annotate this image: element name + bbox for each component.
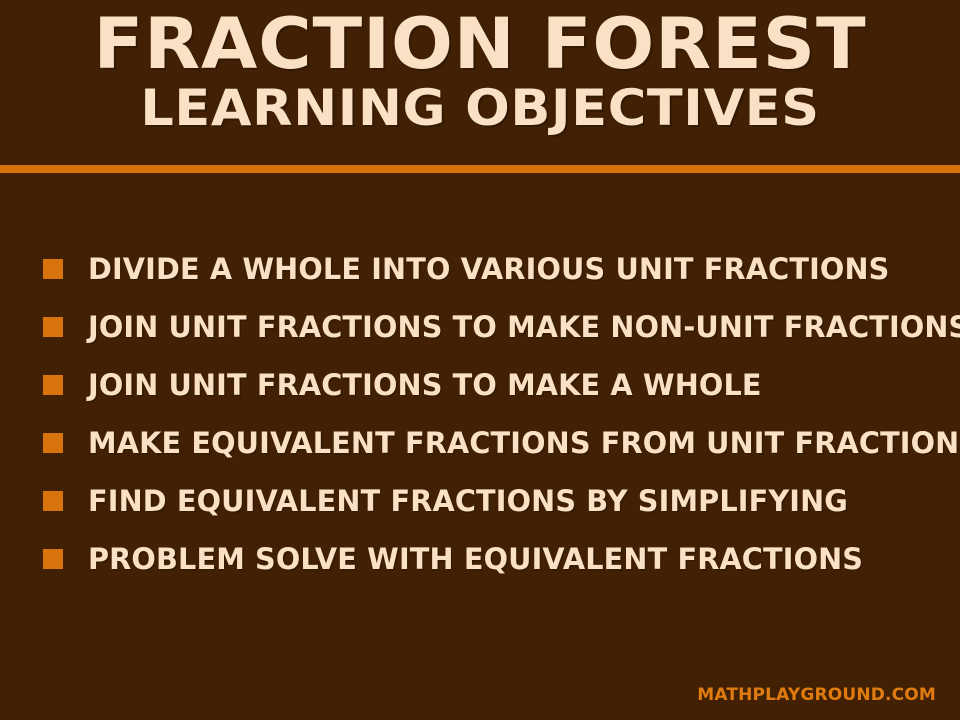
list-item: Join unit fractions to make non-unit fra… [43,298,933,356]
square-bullet-icon [43,491,63,511]
square-bullet-icon [43,433,63,453]
slide-root: Fraction Forest Learning Objectives Divi… [0,0,960,720]
list-item: Make equivalent fractions from unit frac… [43,414,933,472]
site-watermark: mathplayground.com [697,686,936,704]
list-item-label: Find equivalent fractions by simplifying [88,486,848,516]
page-title: Fraction Forest [0,8,960,80]
objectives-list: Divide a whole into various unit fractio… [43,240,933,588]
square-bullet-icon [43,259,63,279]
list-item: Divide a whole into various unit fractio… [43,240,933,298]
list-item-label: Join unit fractions to make non-unit fra… [88,312,960,342]
square-bullet-icon [43,549,63,569]
list-item: Problem solve with equivalent fractions [43,530,933,588]
list-item: Join unit fractions to make a whole [43,356,933,414]
list-item-label: Join unit fractions to make a whole [88,370,762,400]
list-item-label: Divide a whole into various unit fractio… [88,254,889,284]
slide-header: Fraction Forest Learning Objectives [0,0,960,165]
list-item-label: Problem solve with equivalent fractions [88,544,863,574]
header-divider-rule [0,165,960,173]
page-subtitle: Learning Objectives [0,82,960,134]
list-item-label: Make equivalent fractions from unit frac… [88,428,960,458]
list-item: Find equivalent fractions by simplifying [43,472,933,530]
square-bullet-icon [43,317,63,337]
square-bullet-icon [43,375,63,395]
